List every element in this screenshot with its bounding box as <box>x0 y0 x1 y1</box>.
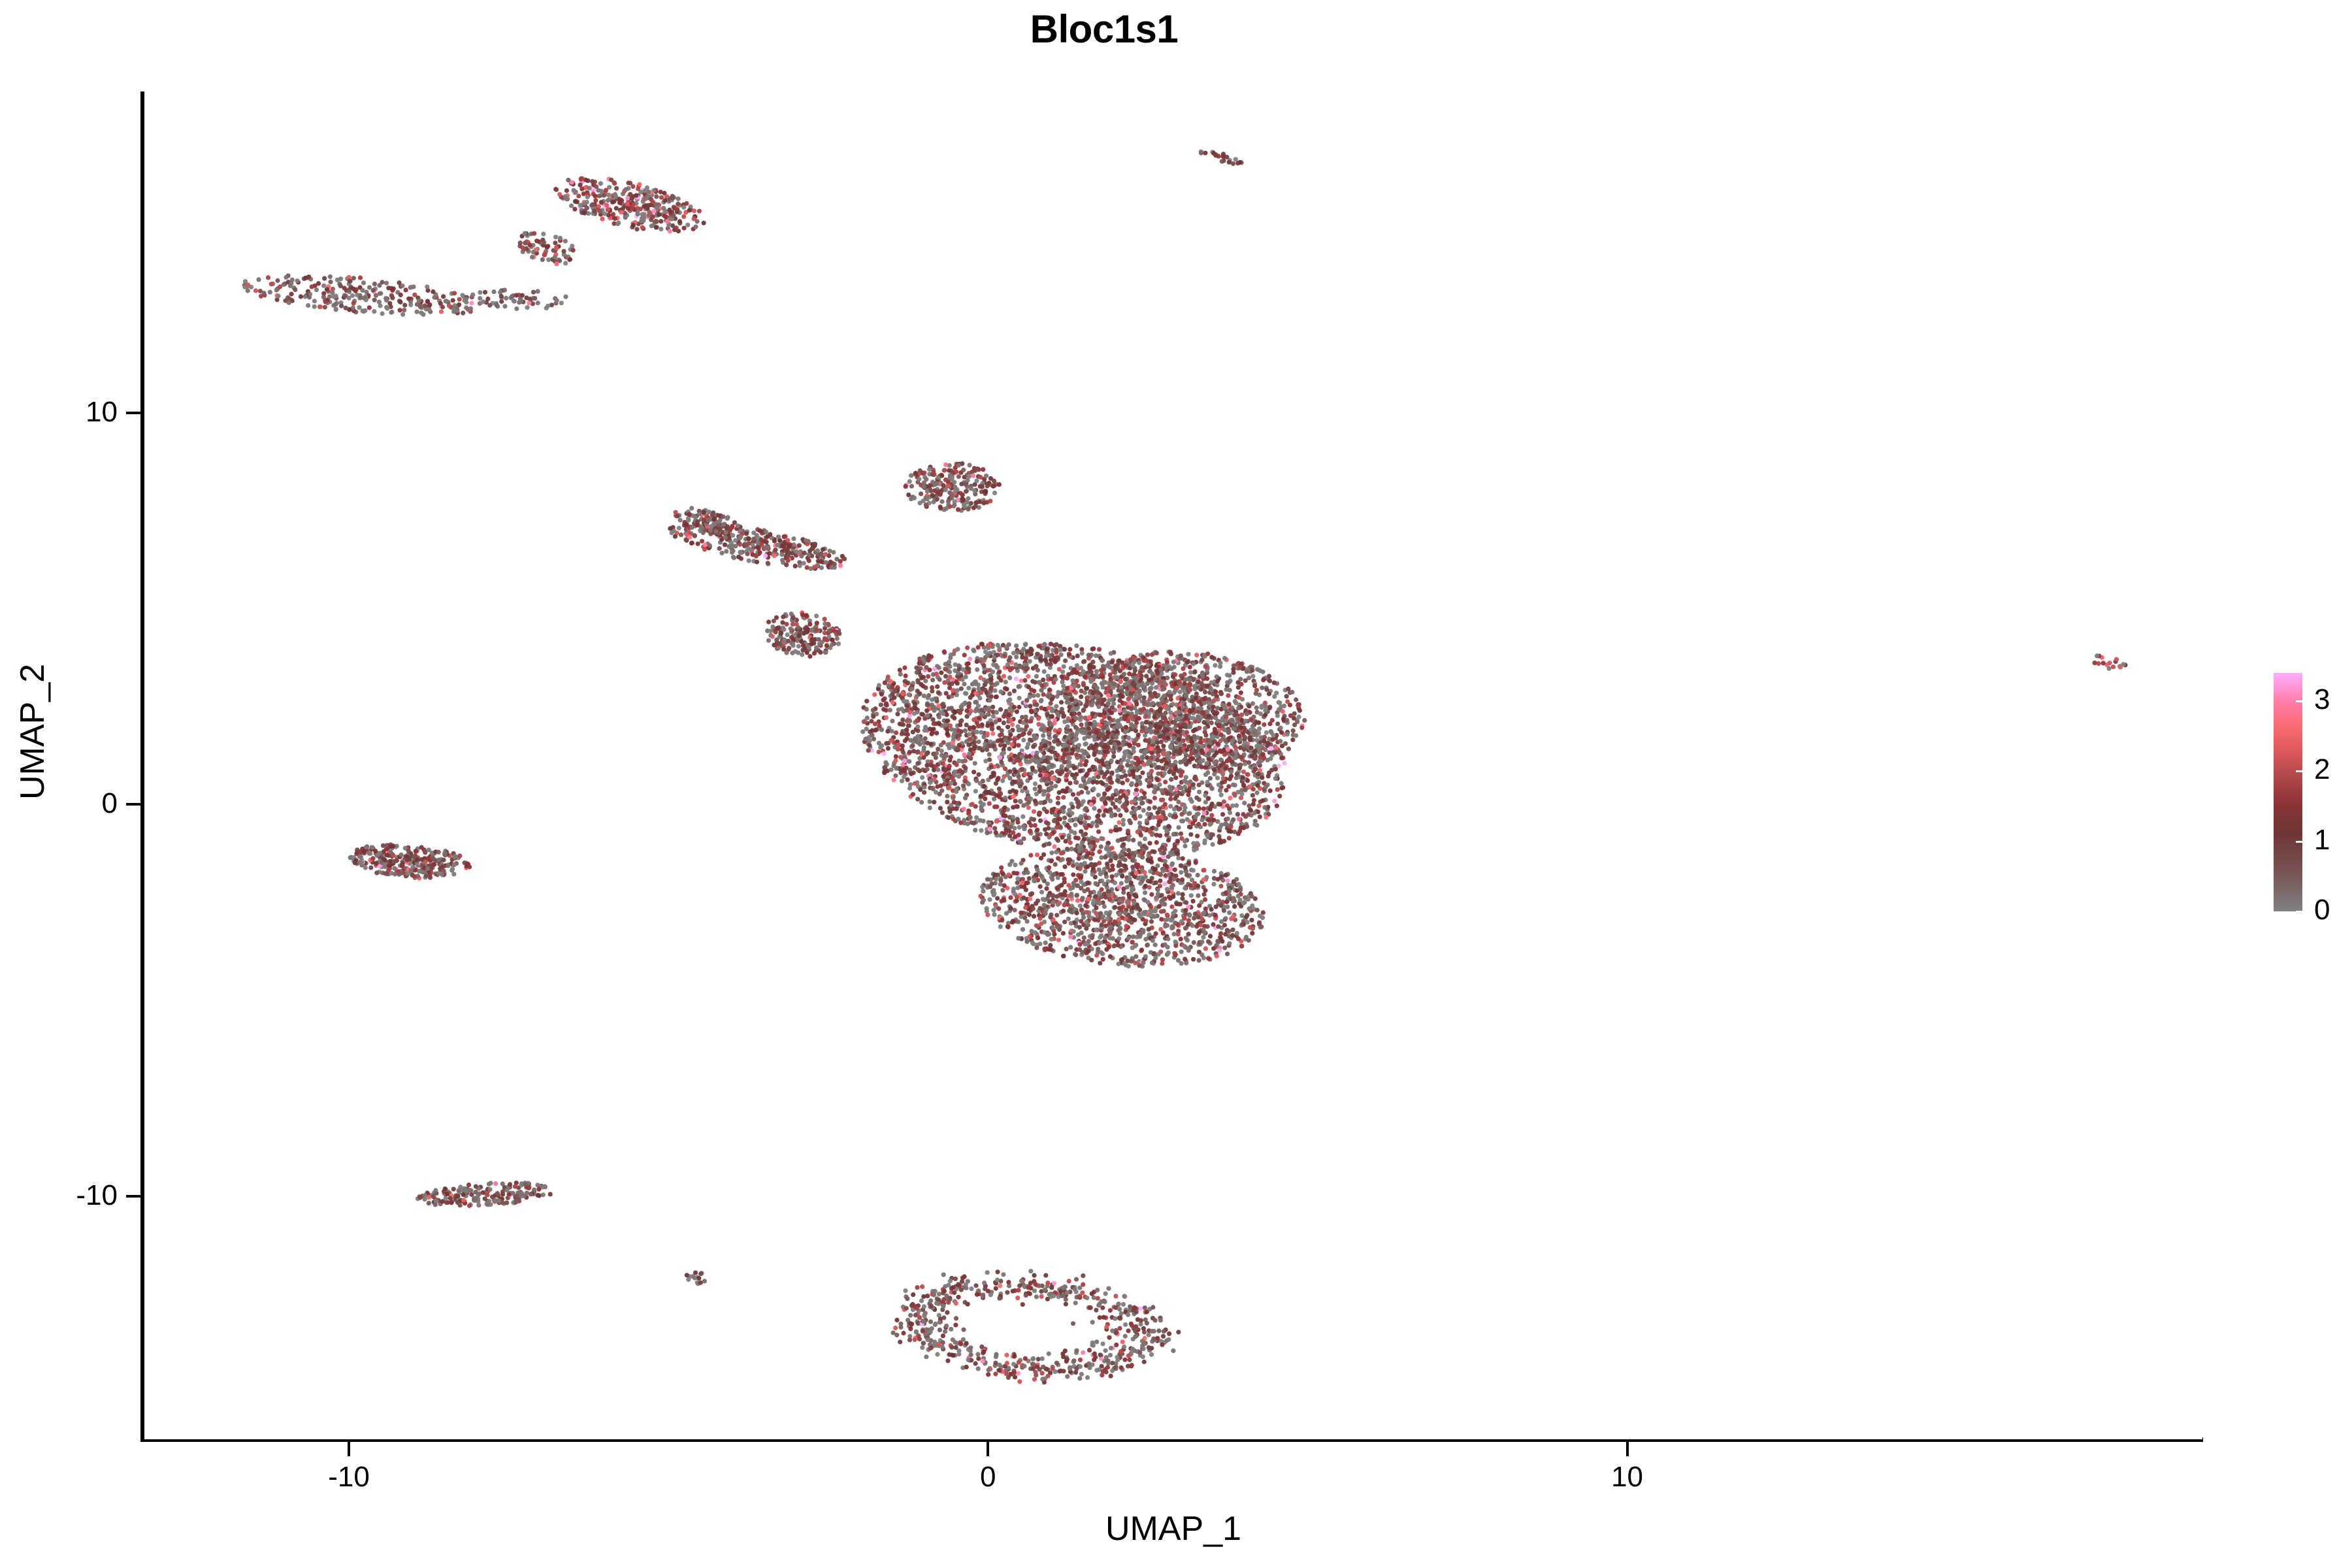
scatter-points-layer <box>144 91 2202 1439</box>
colorbar-tick-mark <box>2296 770 2305 772</box>
x-tick-mark <box>348 1442 350 1456</box>
colorbar-tick-label: 0 <box>2314 896 2330 924</box>
colorbar-gradient <box>2274 673 2302 911</box>
colorbar-tick-mark <box>2296 841 2305 843</box>
x-axis-label: UMAP_1 <box>144 1509 2202 1548</box>
y-tick-mark <box>126 1195 140 1198</box>
y-tick-label: 10 <box>0 396 118 429</box>
y-axis-label: UMAP_2 <box>13 470 52 993</box>
x-tick-label: -10 <box>277 1461 421 1494</box>
x-tick-label: 10 <box>1556 1461 1699 1494</box>
colorbar-tick-label: 3 <box>2314 685 2330 714</box>
y-tick-mark <box>126 803 140 806</box>
plot-panel <box>144 91 2202 1439</box>
umap-feature-plot: Bloc1s1 -10010 -10010 UMAP_1 UMAP_2 0123 <box>0 0 2352 1568</box>
x-tick-mark <box>1626 1442 1629 1456</box>
colorbar-tick-mark <box>2296 700 2305 702</box>
y-tick-label: -10 <box>0 1179 118 1212</box>
page-title: Bloc1s1 <box>0 7 2208 52</box>
x-tick-mark <box>987 1442 989 1456</box>
colorbar-tick-label: 2 <box>2314 755 2330 784</box>
colorbar-tick-label: 1 <box>2314 826 2330 855</box>
colorbar-tick-mark <box>2296 911 2305 913</box>
y-tick-mark <box>126 412 140 414</box>
colorbar-legend[interactable]: 0123 <box>2267 666 2345 928</box>
x-tick-label: 0 <box>916 1461 1060 1494</box>
